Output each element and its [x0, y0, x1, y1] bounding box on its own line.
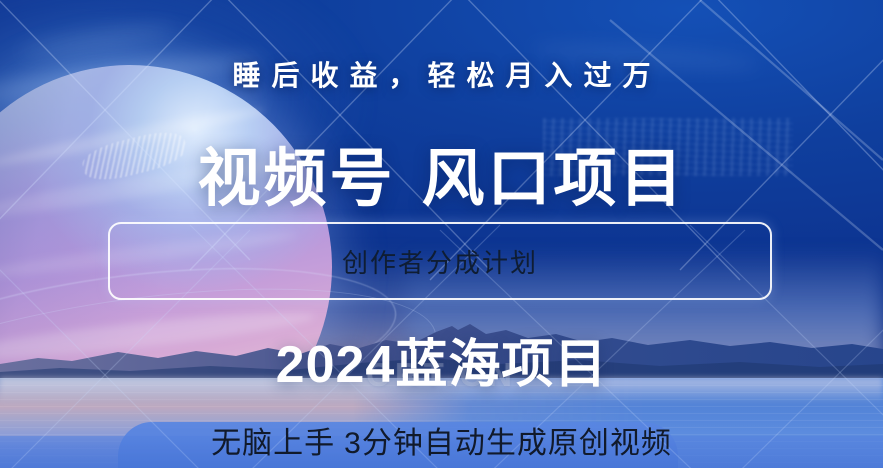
bottom-caption: 无脑上手3分钟自动生成原创视频: [0, 418, 883, 462]
main-title-part2: 风口项目: [422, 144, 686, 214]
subtitle-text: 创作者分成计划: [110, 224, 770, 298]
tagline-text: 睡后收益，轻松月入过万: [0, 54, 883, 94]
subtitle-box: 创作者分成计划: [108, 222, 772, 300]
promo-poster: 睡后收益，轻松月入过万 视频号风口项目 创作者分成计划 CRT.CN 2024蓝…: [0, 0, 883, 468]
year-headline: 2024蓝海项目: [0, 322, 883, 397]
bottom-caption-part2: 3分钟自动生成原创视频: [344, 427, 672, 460]
main-title-part1: 视频号: [198, 144, 396, 214]
poster-content: 睡后收益，轻松月入过万 视频号风口项目 创作者分成计划 CRT.CN 2024蓝…: [0, 0, 883, 468]
page-title: 视频号风口项目: [0, 146, 883, 212]
bottom-caption-part1: 无脑上手: [211, 427, 335, 460]
